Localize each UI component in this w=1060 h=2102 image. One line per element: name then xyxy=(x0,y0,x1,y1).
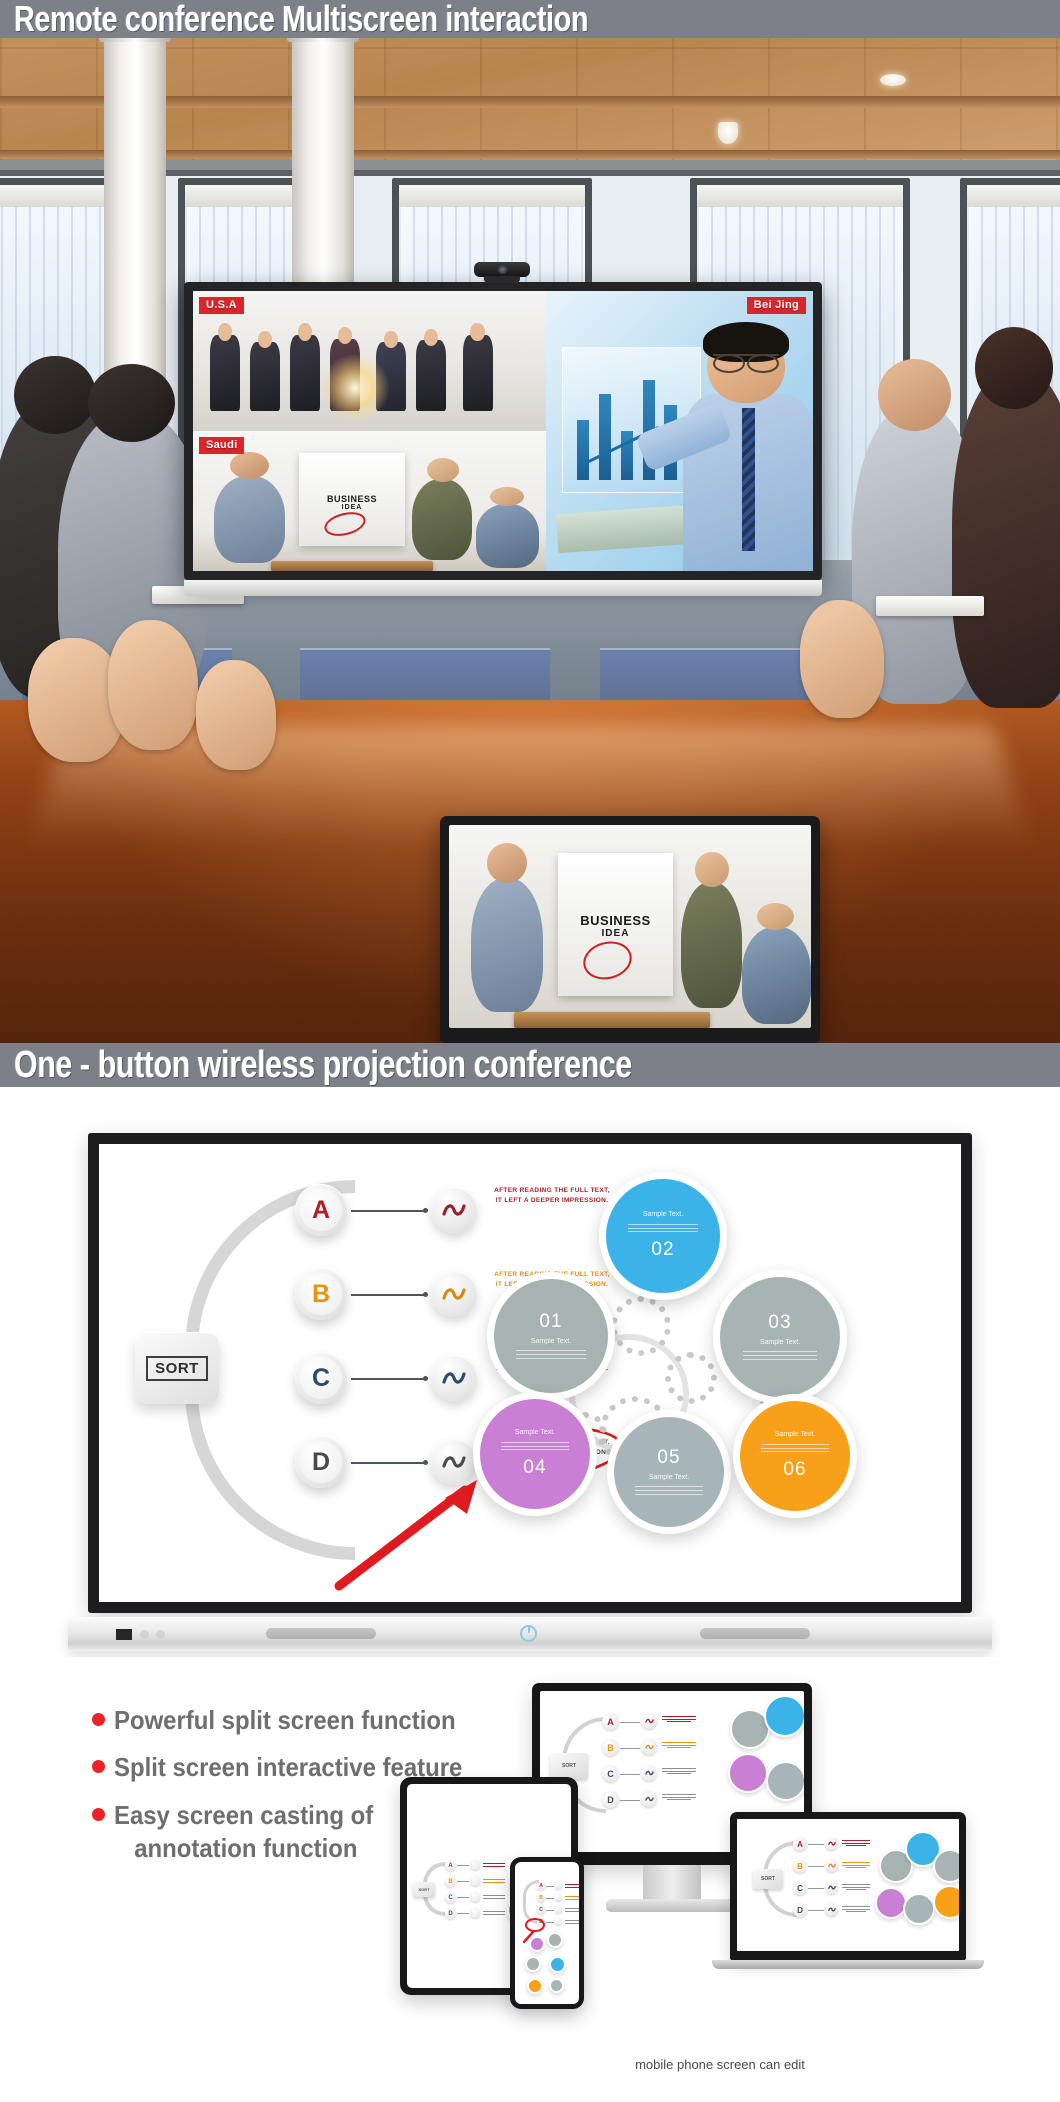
feature-text-line1: Easy screen casting of xyxy=(114,1800,373,1830)
speaker-grill xyxy=(700,1628,810,1639)
webcam-lens xyxy=(497,265,508,274)
circle-item-01[interactable]: 01 Sample Text. xyxy=(487,1272,615,1400)
sort-box[interactable]: SORT xyxy=(135,1332,219,1404)
video-pane-beijing[interactable]: Bei Jing xyxy=(546,291,813,571)
circle-sample-04: Sample Text. xyxy=(515,1429,555,1436)
bullet-dot-icon xyxy=(92,1808,105,1821)
window-shade xyxy=(697,185,903,207)
presenter xyxy=(674,325,813,571)
interactive-flat-panel[interactable]: U.S.A Saudi xyxy=(184,282,822,580)
participant xyxy=(476,504,540,568)
location-badge-saudi: Saudi xyxy=(199,437,244,454)
participant xyxy=(214,476,285,563)
monitor-stand-neck xyxy=(643,1865,701,1901)
circle-item-05[interactable]: 05 Sample Text. xyxy=(607,1410,731,1534)
laptop-flipchart-title: BUSINESS xyxy=(580,913,650,928)
table-edge xyxy=(271,561,434,571)
connector-b xyxy=(351,1294,427,1296)
device-caption: mobile phone screen can edit xyxy=(400,2057,1040,2072)
circle-item-04[interactable]: Sample Text. 04 xyxy=(473,1392,597,1516)
circle-number-01: 01 xyxy=(539,1311,562,1333)
connector-d xyxy=(351,1462,427,1464)
circle-item-06[interactable]: Sample Text. 06 xyxy=(733,1394,857,1518)
swirl-icon-a[interactable] xyxy=(431,1187,477,1233)
swirl-icon-c[interactable] xyxy=(431,1355,477,1401)
laptop-screen: SORT A B C D xyxy=(737,1819,959,1951)
circle-lines xyxy=(628,1221,699,1234)
laptop-base xyxy=(712,1960,984,1969)
whiteboard-section: SORT A AFTER READING THE FULL TEXT, IT L… xyxy=(0,1087,1060,1657)
circle-lines xyxy=(635,1484,703,1497)
letter-node-a-label: A xyxy=(312,1196,330,1225)
glass-partition xyxy=(300,648,550,708)
caption-a: AFTER READING THE FULL TEXT, IT LEFT A D… xyxy=(493,1186,611,1206)
bullet-dot-icon xyxy=(92,1713,105,1726)
annotation-circle xyxy=(322,508,369,540)
letter-node-b[interactable]: B xyxy=(295,1268,347,1320)
connector-a xyxy=(351,1210,427,1212)
webcam-icon xyxy=(474,260,530,284)
clapping-hand xyxy=(800,600,884,718)
feature-text-wrapper: Easy screen casting of annotation functi… xyxy=(114,1799,373,1866)
middle-banner-title: One - button wireless projection confere… xyxy=(14,1044,632,1087)
mini-infographic: A B C D xyxy=(515,1862,579,2004)
laptop[interactable]: SORT A B C D xyxy=(730,1812,966,1960)
clapping-hand xyxy=(108,620,198,750)
circle-item-03[interactable]: 03 Sample Text. xyxy=(713,1270,847,1404)
table-laptop[interactable]: BUSINESS IDEA xyxy=(440,816,820,1043)
panel-speaker-bar xyxy=(184,580,822,596)
eyeglasses-icon xyxy=(713,354,779,371)
window-shade xyxy=(967,185,1060,207)
circle-lines xyxy=(516,1348,587,1361)
circle-lines xyxy=(501,1439,569,1452)
power-button[interactable] xyxy=(520,1625,537,1642)
whiteboard-screen: SORT A AFTER READING THE FULL TEXT, IT L… xyxy=(99,1144,961,1602)
connector-c xyxy=(351,1378,427,1380)
video-pane-usa[interactable]: U.S.A xyxy=(193,291,546,431)
letter-node-c-label: C xyxy=(312,1364,330,1393)
table-laptop-screen: BUSINESS IDEA xyxy=(449,825,811,1028)
letter-node-b-label: B xyxy=(312,1280,330,1309)
sort-label: SORT xyxy=(146,1356,208,1381)
window-shade xyxy=(0,185,113,207)
circle-number-03: 03 xyxy=(768,1312,791,1334)
flipchart: BUSINESS IDEA xyxy=(299,453,405,545)
gear-icon xyxy=(611,1296,671,1356)
notebook xyxy=(876,596,984,616)
speaker-grill xyxy=(266,1628,376,1639)
circle-sample-06: Sample Text. xyxy=(775,1431,815,1438)
laptop-flipchart-subtitle: IDEA xyxy=(563,928,667,939)
circle-lines xyxy=(761,1441,829,1454)
features-section: Powerful split screen function Split scr… xyxy=(0,1657,1060,2102)
red-annotation-arrow xyxy=(325,1474,495,1594)
monitor-stand-base xyxy=(606,1899,738,1912)
interactive-whiteboard[interactable]: SORT A AFTER READING THE FULL TEXT, IT L… xyxy=(88,1133,972,1613)
location-badge-usa: U.S.A xyxy=(199,297,244,314)
device-montage: SORT A B C D xyxy=(400,1667,1040,2087)
flipchart-text: BUSINESS IDEA xyxy=(304,494,399,511)
window-shade xyxy=(399,185,585,207)
circle-sample-03: Sample Text. xyxy=(760,1339,800,1346)
attendee xyxy=(952,368,1060,708)
middle-banner: One - button wireless projection confere… xyxy=(0,1043,1060,1087)
location-badge-beijing: Bei Jing xyxy=(747,297,806,314)
swirl-icon-b[interactable] xyxy=(431,1271,477,1317)
video-pane-saudi[interactable]: Saudi BUSINESS IDEA xyxy=(193,431,546,571)
letter-node-c[interactable]: C xyxy=(295,1352,347,1404)
top-banner: Remote conference Multiscreen interactio… xyxy=(0,0,1060,38)
webcam-clip xyxy=(484,276,520,283)
top-banner-title: Remote conference Multiscreen interactio… xyxy=(14,0,588,40)
circle-item-02[interactable]: Sample Text. 02 xyxy=(599,1172,727,1300)
video-wall-screen: U.S.A Saudi xyxy=(193,291,813,571)
sensor-dot xyxy=(156,1630,165,1639)
participant xyxy=(412,479,472,560)
mini-infographic: SORT A B C D xyxy=(737,1819,959,1951)
presenter-tie xyxy=(742,408,755,551)
circle-number-05: 05 xyxy=(657,1447,680,1469)
feature-text-line2: annotation function xyxy=(134,1832,373,1865)
gear-icon xyxy=(665,1352,717,1404)
circle-sample-05: Sample Text. xyxy=(649,1474,689,1481)
mobile-phone[interactable]: A B C D xyxy=(510,1857,584,2009)
ceiling-spotlight xyxy=(718,122,738,144)
circle-number-04: 04 xyxy=(523,1457,546,1479)
whiteboard-speaker-bar xyxy=(68,1617,992,1651)
clapping-hand xyxy=(196,660,276,770)
conference-room-photo: U.S.A Saudi xyxy=(0,0,1060,1043)
brand-badge xyxy=(116,1629,132,1640)
letter-node-d-label: D xyxy=(312,1448,330,1477)
lens-flare xyxy=(320,353,390,423)
ceiling-light xyxy=(880,74,906,86)
letter-node-a[interactable]: A xyxy=(295,1184,347,1236)
circle-number-02: 02 xyxy=(651,1239,674,1261)
flipchart-subtitle: IDEA xyxy=(304,504,399,511)
circle-sample-01: Sample Text. xyxy=(531,1338,571,1345)
circle-sample-02: Sample Text. xyxy=(643,1211,683,1218)
circle-number-06: 06 xyxy=(783,1459,806,1481)
phone-screen: A B C D xyxy=(515,1862,579,2004)
video-wall-left-column: U.S.A Saudi xyxy=(193,291,546,571)
sensor-dot xyxy=(140,1630,149,1639)
circle-lines xyxy=(743,1349,817,1362)
flipchart-title: BUSINESS xyxy=(327,494,377,504)
bullet-dot-icon xyxy=(92,1760,105,1773)
